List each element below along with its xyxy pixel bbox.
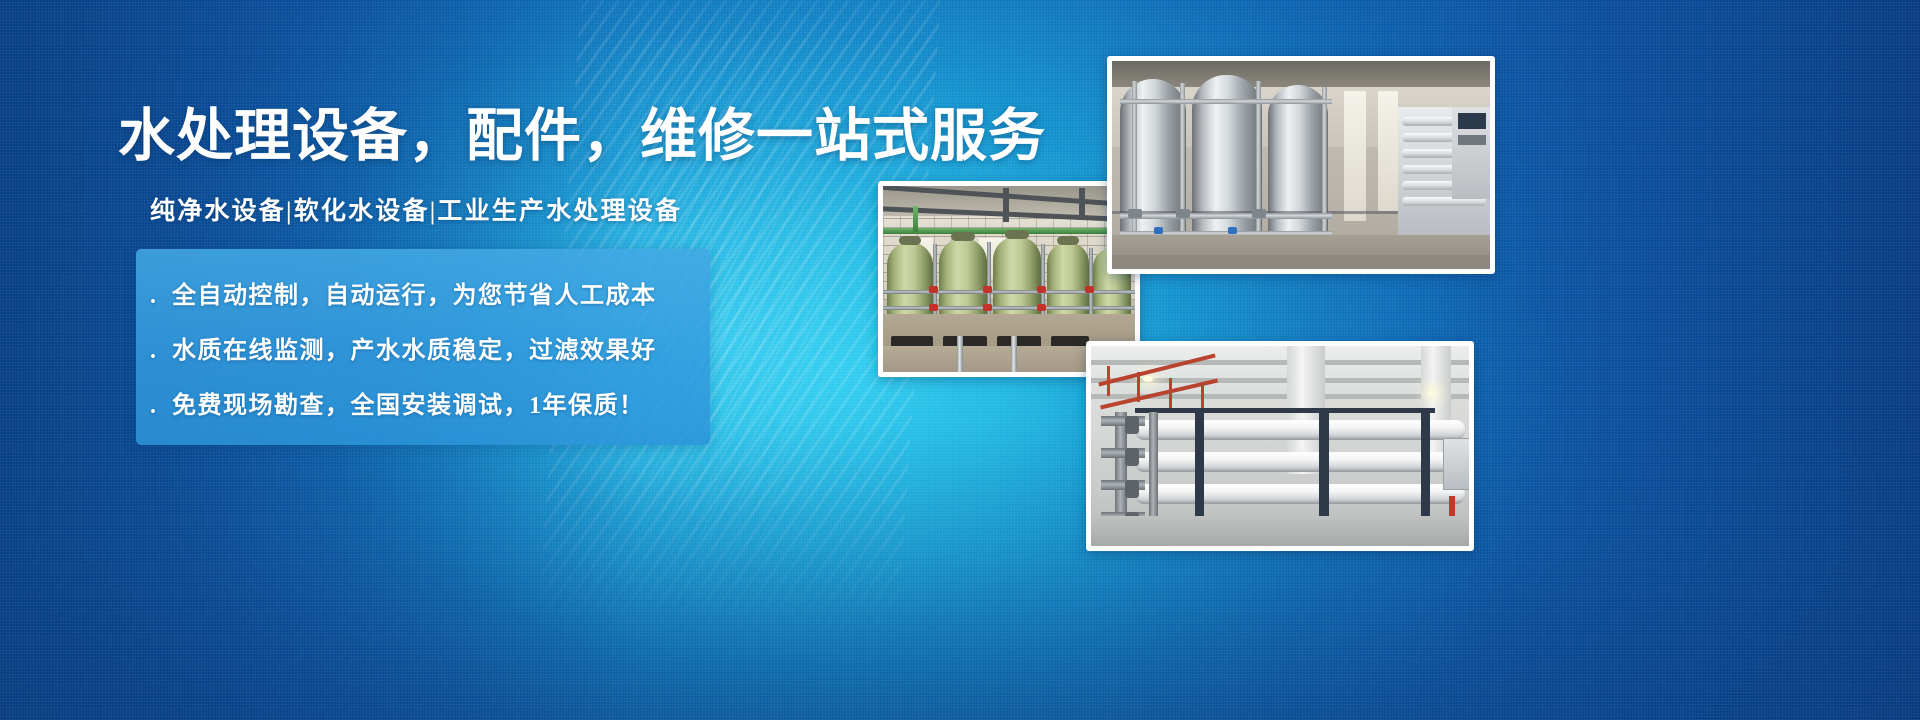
bullet-dot-icon: . bbox=[150, 338, 172, 365]
photo-image bbox=[1112, 61, 1490, 269]
stainless-steel-water-tanks-photo bbox=[1107, 56, 1495, 274]
feature-item-label: 全自动控制，自动运行，为您节省人工成本 bbox=[172, 275, 657, 310]
promo-banner: 水处理设备，配件，维修一站式服务 纯净水设备|软化水设备|工业生产水处理设备 .… bbox=[0, 0, 1920, 720]
feature-list-box: . 全自动控制，自动运行，为您节省人工成本 . 水质在线监测，产水水质稳定，过滤… bbox=[136, 249, 710, 445]
feature-item: . 水质在线监测，产水水质稳定，过滤效果好 bbox=[150, 330, 710, 385]
bullet-dot-icon: . bbox=[150, 283, 172, 310]
feature-item: . 全自动控制，自动运行，为您节省人工成本 bbox=[150, 275, 710, 330]
feature-list: . 全自动控制，自动运行，为您节省人工成本 . 水质在线监测，产水水质稳定，过滤… bbox=[136, 249, 710, 445]
feature-item: . 免费现场勘查，全国安装调试，1年保质！ bbox=[150, 385, 710, 440]
banner-headline: 水处理设备，配件，维修一站式服务 bbox=[118, 104, 1046, 168]
photo-image bbox=[1091, 346, 1469, 546]
bullet-dot-icon: . bbox=[150, 393, 172, 420]
feature-item-label: 免费现场勘查，全国安装调试，1年保质！ bbox=[172, 385, 645, 420]
ro-membrane-skid-photo bbox=[1086, 341, 1474, 551]
banner-subheadline: 纯净水设备|软化水设备|工业生产水处理设备 bbox=[150, 196, 682, 228]
feature-item-label: 水质在线监测，产水水质稳定，过滤效果好 bbox=[172, 330, 657, 365]
